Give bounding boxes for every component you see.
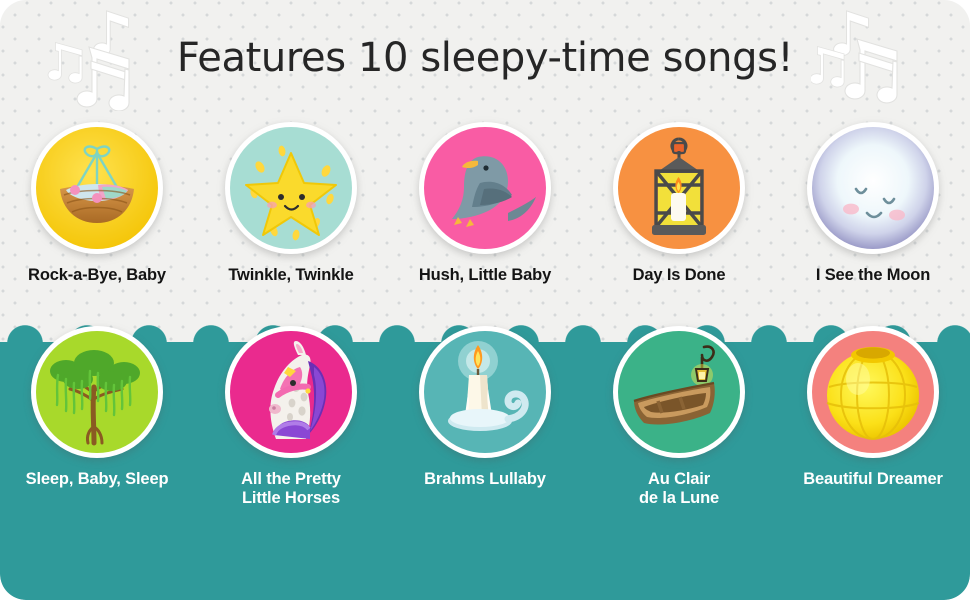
song-all-the-pretty-little-horses[interactable]: All the Pretty Little Horses <box>194 326 388 509</box>
bird-icon <box>424 127 546 249</box>
willow-tree-icon <box>36 331 158 453</box>
disc-ring <box>613 326 745 458</box>
disc-ring <box>807 326 939 458</box>
song-sleep-baby-sleep[interactable]: Sleep, Baby, Sleep <box>0 326 194 509</box>
candle-icon <box>424 331 546 453</box>
song-label: Hush, Little Baby <box>419 266 551 285</box>
song-label: All the Pretty Little Horses <box>241 470 341 509</box>
song-day-is-done[interactable]: Day Is Done <box>582 122 776 285</box>
song-label: Brahms Lullaby <box>424 470 546 489</box>
rowboat-icon <box>618 331 740 453</box>
sleepy-time-songs-card: Features 10 sleepy-time songs! <box>0 0 970 600</box>
song-row-one: Rock-a-Bye, Baby <box>0 122 970 285</box>
song-label: I See the Moon <box>816 266 930 285</box>
song-brahms-lullaby[interactable]: Brahms Lullaby <box>388 326 582 509</box>
song-twinkle-twinkle[interactable]: Twinkle, Twinkle <box>194 122 388 285</box>
song-hush-little-baby[interactable]: Hush, Little Baby <box>388 122 582 285</box>
song-row-two: Sleep, Baby, Sleep <box>0 326 970 509</box>
song-label: Twinkle, Twinkle <box>228 266 353 285</box>
cradle-icon <box>36 127 158 249</box>
song-au-clair-de-la-lune[interactable]: Au Clair de la Lune <box>582 326 776 509</box>
star-icon <box>230 127 352 249</box>
music-notes-icon-right <box>811 7 923 111</box>
lantern-icon <box>618 127 740 249</box>
song-label: Beautiful Dreamer <box>803 470 943 489</box>
song-label: Day Is Done <box>633 266 726 285</box>
song-label: Au Clair de la Lune <box>639 470 719 509</box>
song-label: Rock-a-Bye, Baby <box>28 266 166 285</box>
header: Features 10 sleepy-time songs! <box>0 0 970 118</box>
disc-ring <box>613 122 745 254</box>
paper-lantern-icon <box>812 331 934 453</box>
song-label: Sleep, Baby, Sleep <box>26 470 169 489</box>
disc-ring <box>225 326 357 458</box>
disc-ring <box>419 326 551 458</box>
disc-ring <box>419 122 551 254</box>
song-beautiful-dreamer[interactable]: Beautiful Dreamer <box>776 326 970 509</box>
page-title: Features 10 sleepy-time songs! <box>177 35 793 84</box>
disc-ring <box>31 122 163 254</box>
moon-face-icon <box>812 127 934 249</box>
song-i-see-the-moon[interactable]: I See the Moon <box>776 122 970 285</box>
horse-icon <box>230 331 352 453</box>
disc-ring <box>807 122 939 254</box>
music-notes-icon-left <box>47 7 159 111</box>
song-rock-a-bye-baby[interactable]: Rock-a-Bye, Baby <box>0 122 194 285</box>
disc-ring <box>225 122 357 254</box>
disc-ring <box>31 326 163 458</box>
